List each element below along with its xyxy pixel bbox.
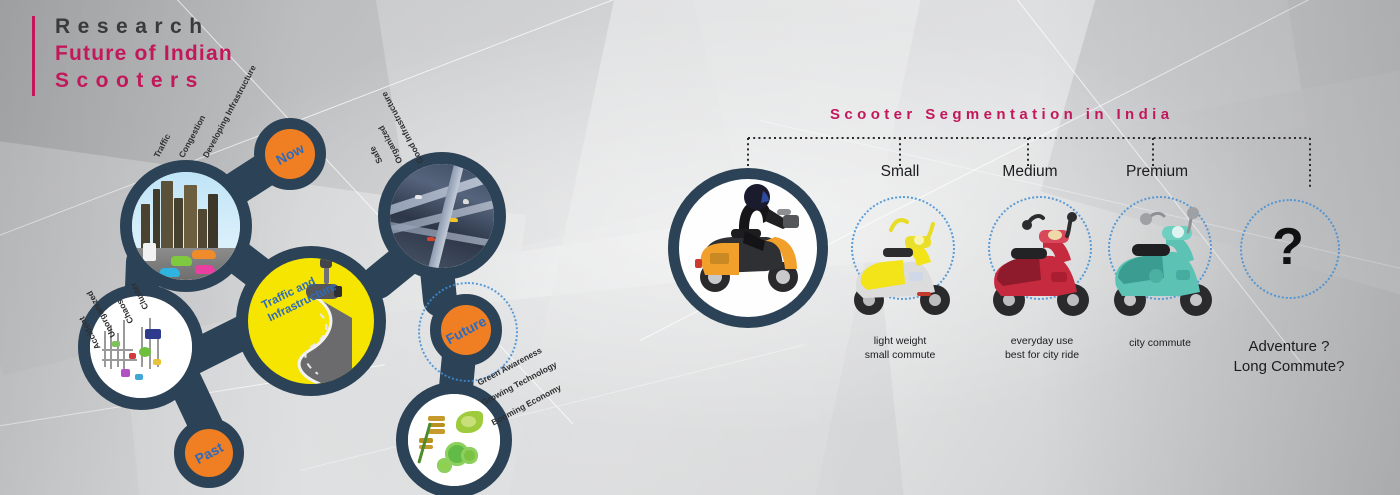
segment-heading-small: Small	[881, 163, 920, 181]
premium-scooter-icon	[1104, 200, 1219, 320]
caption-line: light weight	[865, 335, 936, 349]
green-economy-photo	[408, 394, 500, 486]
segment-image-small[interactable]	[847, 200, 957, 325]
stage-label-future: Future	[432, 296, 500, 364]
stage-node-future[interactable]: Future	[430, 294, 502, 366]
center-node-label: Traffic and Infrastructure	[248, 258, 386, 396]
city-traffic-photo	[132, 172, 240, 280]
rider-on-scooter-icon	[679, 179, 817, 317]
photo-node-highway[interactable]	[378, 152, 506, 280]
caption-line: everyday use	[1005, 335, 1079, 349]
segment-image-medium[interactable]	[985, 200, 1095, 325]
segmentation-bracket	[740, 130, 1320, 190]
hero-scooter-node[interactable]	[668, 168, 828, 328]
segment-heading-premium: Premium	[1126, 163, 1188, 181]
stage-node-now[interactable]: Now	[254, 118, 326, 190]
segment-caption-premium: city commute	[1129, 337, 1191, 351]
medium-scooter-icon	[985, 200, 1095, 320]
question-mark-icon: ?	[1272, 217, 1304, 277]
caption-line: city commute	[1129, 337, 1191, 351]
segmentation-title: Scooter Segmentation in India	[830, 106, 1173, 123]
center-node-traffic-infrastructure[interactable]: Traffic and Infrastructure	[236, 246, 386, 396]
caption-line: Adventure ?	[1234, 337, 1345, 357]
infographic-canvas: Research Future of Indian Scooters	[0, 0, 1400, 495]
highway-photo	[390, 164, 494, 268]
photo-node-city-traffic[interactable]	[120, 160, 252, 292]
caption-line: Long Commute?	[1234, 357, 1345, 377]
segment-caption-medium: everyday use best for city ride	[1005, 335, 1079, 363]
node-diagram: Now	[0, 0, 620, 495]
segment-caption-unknown: Adventure ? Long Commute?	[1234, 337, 1345, 378]
stage-label-now: Now	[256, 120, 324, 188]
caption-line: best for city ride	[1005, 349, 1079, 363]
segment-heading-medium: Medium	[1002, 163, 1057, 181]
caption-line: small commute	[865, 349, 936, 363]
small-scooter-icon	[847, 200, 957, 320]
segment-image-premium[interactable]	[1104, 200, 1219, 325]
stage-node-past[interactable]: Past	[174, 418, 244, 488]
stage-label-past: Past	[177, 421, 242, 486]
segment-caption-small: light weight small commute	[865, 335, 936, 363]
